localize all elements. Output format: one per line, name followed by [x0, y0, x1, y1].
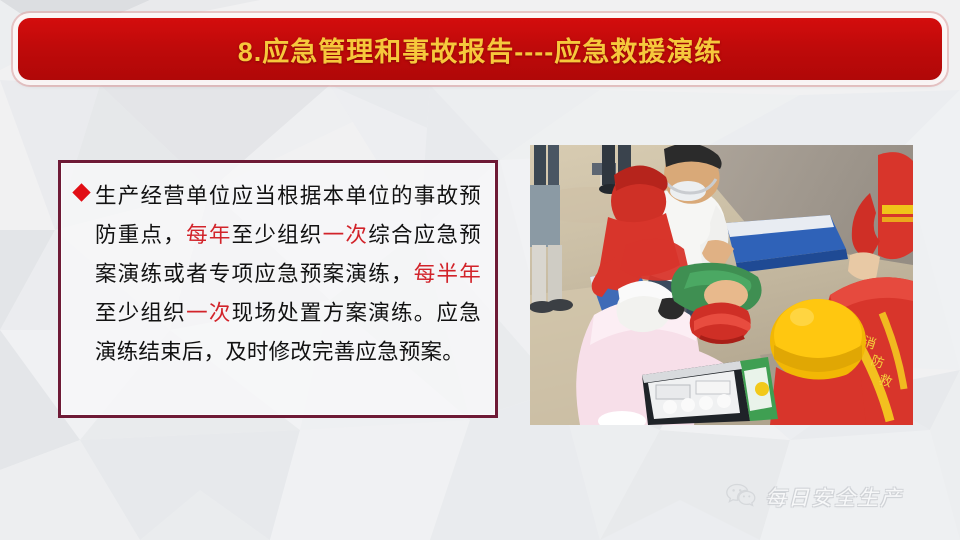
slide-title-banner: 8.应急管理和事故报告----应急救援演练 — [18, 18, 942, 80]
text-run: 至少组织 — [95, 301, 186, 325]
wechat-icon — [726, 483, 756, 512]
highlighted-text-run: 一次 — [186, 301, 232, 325]
watermark-text: 每日安全生产 — [765, 482, 903, 512]
body-paragraph: 生产经营单位应当根据本单位的事故预防重点，每年至少组织一次综合应急预案演练或者专… — [95, 177, 481, 372]
drill-photo: 消 防 救 — [530, 145, 913, 425]
diamond-bullet-icon — [72, 183, 90, 201]
highlighted-text-run: 每半年 — [414, 262, 481, 286]
watermark: 每日安全生产 — [726, 482, 903, 512]
highlighted-text-run: 每年 — [186, 223, 232, 247]
drill-photo-image: 消 防 救 — [530, 145, 913, 425]
page-title: 8.应急管理和事故报告----应急救援演练 — [238, 30, 722, 69]
slide-canvas: 8.应急管理和事故报告----应急救援演练 生产经营单位应当根据本单位的事故预防… — [0, 0, 960, 540]
highlighted-text-run: 一次 — [323, 223, 369, 247]
text-run: 至少组织 — [232, 223, 323, 247]
content-text-box: 生产经营单位应当根据本单位的事故预防重点，每年至少组织一次综合应急预案演练或者专… — [58, 160, 498, 418]
bullet-row: 生产经营单位应当根据本单位的事故预防重点，每年至少组织一次综合应急预案演练或者专… — [73, 177, 481, 372]
